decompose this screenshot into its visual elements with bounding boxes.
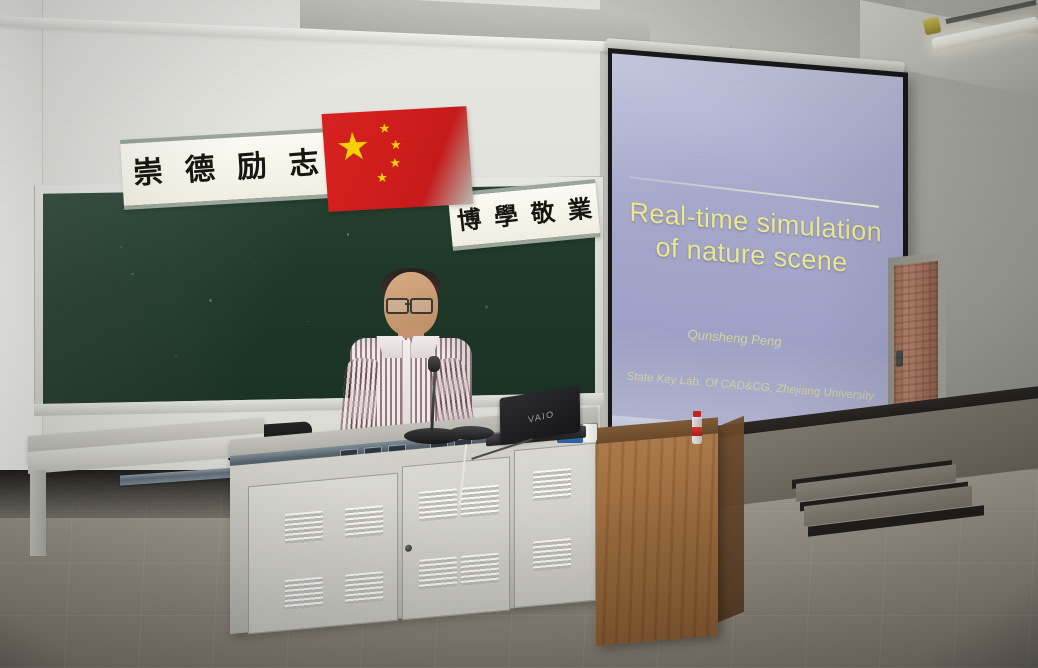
equipment-cabinet [230, 433, 598, 634]
fluorescent-tube-light [930, 2, 1038, 58]
glasses-bridge [405, 303, 412, 305]
chalk-mark [485, 305, 489, 309]
slide-title: Real-time simulation of nature scene [629, 196, 891, 283]
cabinet-door-left[interactable] [248, 473, 398, 635]
door-handle-icon[interactable] [896, 350, 903, 367]
chalk-mark [131, 273, 134, 276]
screen-glare [612, 53, 903, 206]
vent-grille [345, 571, 383, 604]
banner-char: 業 [566, 197, 593, 224]
cabinet-door-far[interactable] [514, 443, 596, 608]
banner-char: 志 [288, 148, 320, 180]
cabinet-door-right[interactable] [402, 457, 510, 621]
glasses-icon [410, 298, 433, 314]
left-desk-leg [30, 470, 46, 556]
banner-char: 博 [455, 207, 482, 234]
slide-affiliation: State Key Lab. Of CAD&CG, Zhejiang Unive… [627, 371, 895, 405]
bottle-label [692, 427, 702, 436]
vent-grille [419, 488, 457, 521]
flag-star-small: ★ [389, 156, 402, 170]
chalk-mark [175, 356, 177, 358]
projection-screen: Real-time simulation of nature scene Qun… [608, 48, 908, 465]
banner-char: 崇 [132, 157, 164, 189]
vent-grille [345, 505, 383, 538]
flag-star-small: ★ [378, 121, 391, 135]
flag-star-small: ★ [376, 171, 389, 185]
laptop-brand-label: VAIO [528, 409, 555, 425]
banner-char: 德 [184, 154, 216, 186]
cabinet-lock-icon[interactable] [405, 544, 412, 552]
vent-grille [533, 538, 571, 571]
chalk-mark [120, 246, 122, 248]
chalk-mark [209, 299, 213, 303]
bottle-cap [693, 411, 701, 417]
vent-grille [461, 485, 499, 518]
screen-surface: Real-time simulation of nature scene Qun… [612, 53, 903, 458]
vent-grille [285, 511, 323, 544]
flag-star-large: ★ [335, 128, 372, 168]
lecture-hall-photo: 崇 德 励 志 博 學 敬 業 ★ ★ ★ ★ ★ Real-time simu… [0, 0, 1038, 668]
flag-star-small: ★ [389, 138, 402, 152]
vent-grille [461, 553, 499, 586]
chalk-mark [308, 321, 310, 323]
microphone-head-icon [428, 356, 440, 372]
slide-author: Qunsheng Peng [688, 326, 782, 349]
light-end-cap [923, 17, 942, 36]
wooden-podium [596, 425, 718, 646]
banner-char: 敬 [529, 200, 556, 227]
chalk-mark [253, 262, 255, 264]
chinese-flag: ★ ★ ★ ★ ★ [322, 106, 474, 212]
vent-grille [533, 468, 571, 501]
vent-grille [285, 577, 323, 610]
vent-grille [419, 556, 457, 589]
banner-char: 励 [236, 151, 268, 183]
chalk-mark [347, 233, 350, 236]
banner-char: 學 [492, 203, 519, 230]
calligraphy-banner-left: 崇 德 励 志 [120, 128, 332, 210]
glasses-icon [386, 298, 409, 314]
